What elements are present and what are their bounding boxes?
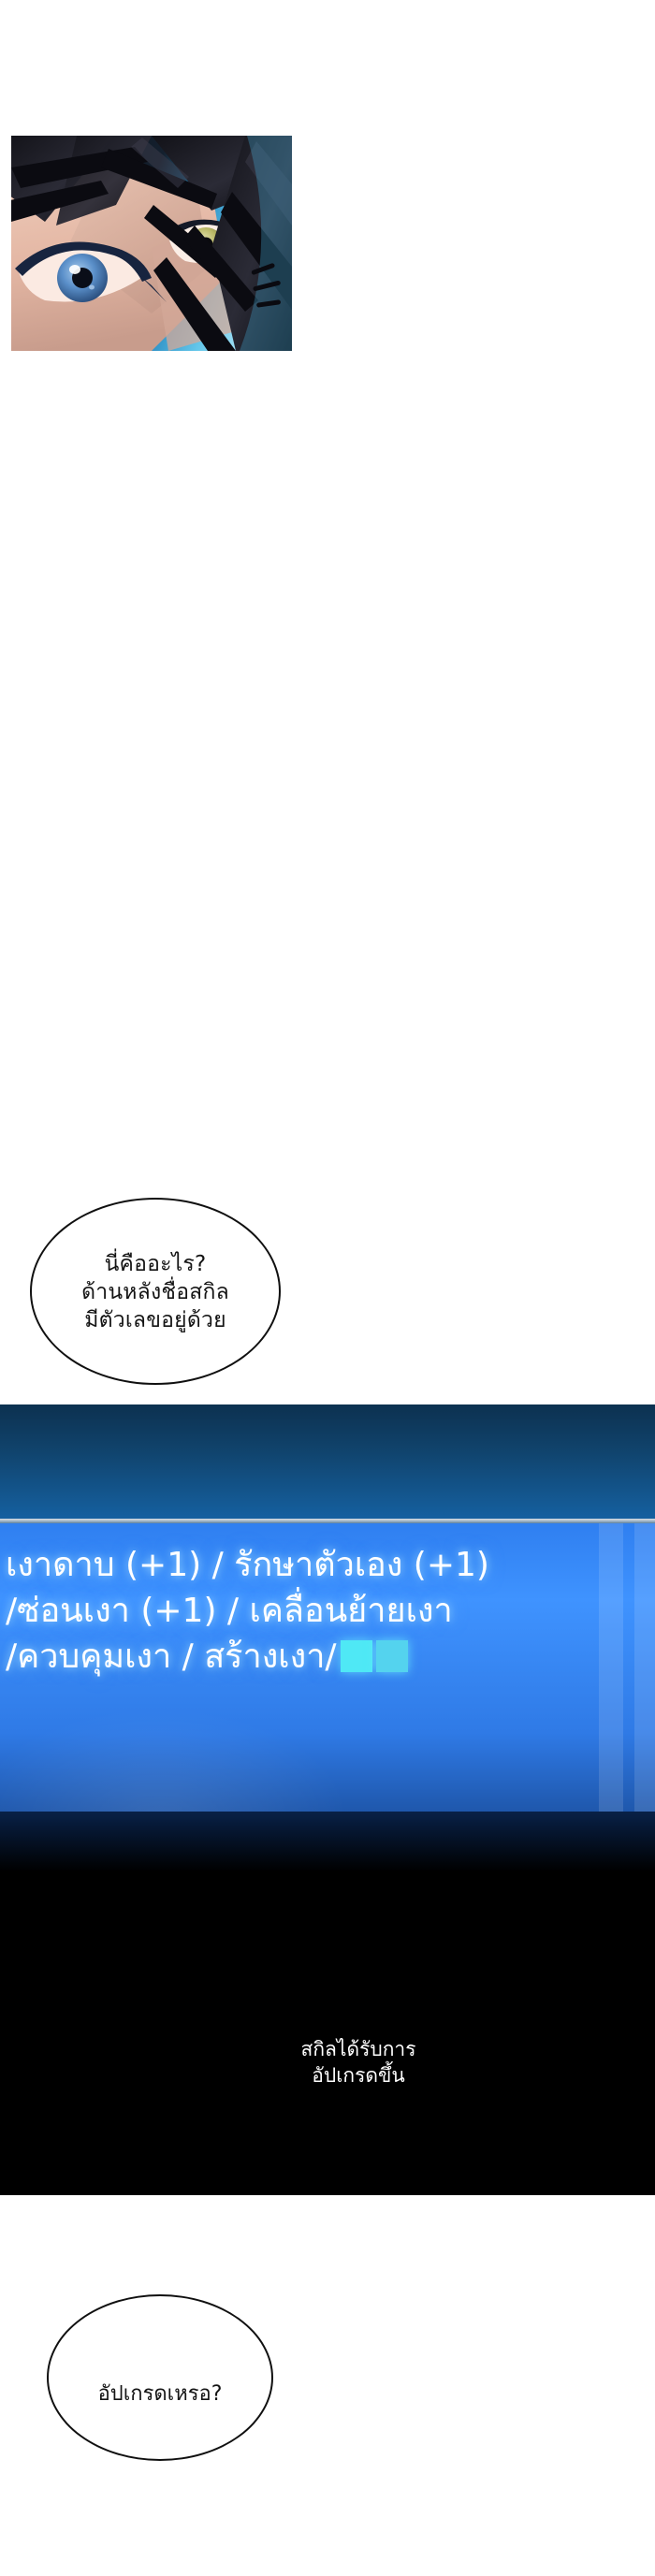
skill-line-2: /ซ่อนเงา (+1) / เคลื่อนย้ายเงา <box>6 1589 651 1635</box>
skill-line-1: เงาดาบ (+1) / รักษาตัวเอง (+1) <box>6 1543 651 1589</box>
skill-line-3-text: /ควบคุมเงา / สร้างเงา/ <box>6 1637 337 1676</box>
narration-line: อัปเกรดขึ้น <box>301 2063 416 2089</box>
dark-block-fade <box>0 1812 655 1871</box>
close-up-eyes-panel <box>11 136 292 351</box>
skill-list: เงาดาบ (+1) / รักษาตัวเอง (+1) /ซ่อนเงา … <box>0 1524 655 1681</box>
system-status-window: เงาดาบ (+1) / รักษาตัวเอง (+1) /ซ่อนเงา … <box>0 1404 655 1872</box>
comic-page: นี่คืออะไร? ด้านหลังชื่อสกิล มีตัวเลขอยู… <box>0 0 655 2576</box>
status-window-header <box>0 1404 655 1519</box>
thought-bubble-bottom-text: อัปเกรดเหรอ? <box>98 2381 223 2409</box>
narration-oval: สกิลได้รับการ อัปเกรดขึ้น <box>122 1974 505 2152</box>
bubble-line: อัปเกรดเหรอ? <box>98 2381 223 2409</box>
thought-bubble-top-text: นี่คืออะไร? ด้านหลังชื่อสกิล มีตัวเลขอยู… <box>81 1251 229 1335</box>
narration-line: สกิลได้รับการ <box>301 2037 416 2063</box>
cyan-block-icon <box>341 1640 372 1672</box>
narration-oval-text: สกิลได้รับการ อัปเกรดขึ้น <box>301 2037 416 2088</box>
thought-bubble-bottom: อัปเกรดเหรอ? <box>47 2294 273 2461</box>
thought-bubble-top: นี่คืออะไร? ด้านหลังชื่อสกิล มีตัวเลขอยู… <box>30 1198 281 1385</box>
skill-line-3: /ควบคุมเงา / สร้างเงา/ <box>6 1635 651 1681</box>
bubble-line: มีตัวเลขอยู่ด้วย <box>81 1307 229 1335</box>
eyes-artwork-svg <box>11 136 292 351</box>
bubble-line: นี่คืออะไร? <box>81 1251 229 1279</box>
bubble-line: ด้านหลังชื่อสกิล <box>81 1279 229 1307</box>
cyan-block-icon <box>376 1640 408 1672</box>
